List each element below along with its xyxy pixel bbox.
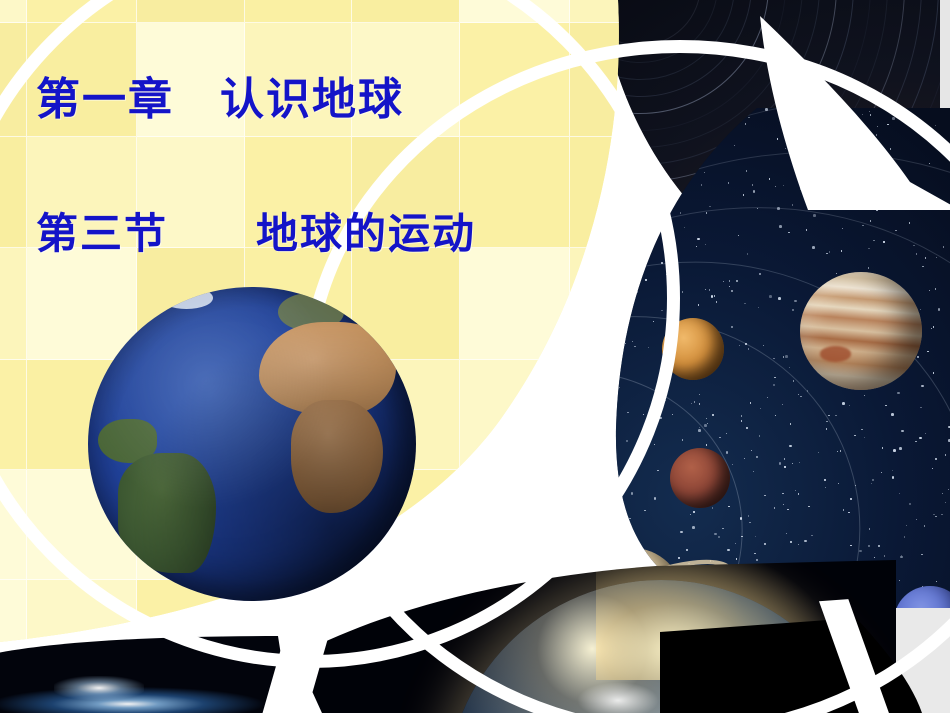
section-title: 第三节 地球的运动 [36, 200, 476, 261]
globe-shading [88, 287, 416, 601]
grid-cell [0, 0, 27, 23]
grid-cell [0, 580, 27, 660]
sun-flare [54, 676, 144, 700]
chapter-title: 第一章 认识地球 [36, 63, 404, 127]
earth-globe [88, 287, 416, 601]
presentation-slide: 第一章 认识地球 第三节 地球的运动 [0, 0, 950, 713]
